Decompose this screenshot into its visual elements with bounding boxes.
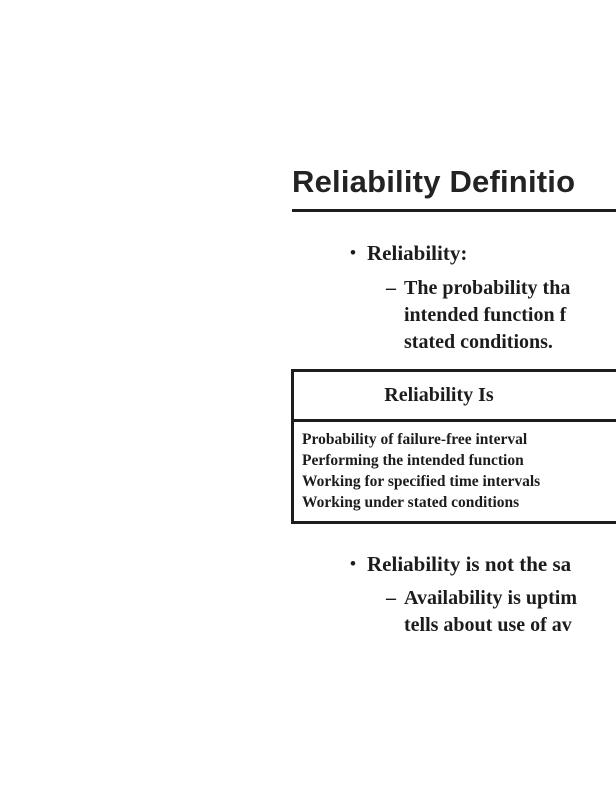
list-item: Performing the intended function bbox=[302, 450, 616, 471]
table-header-row: Reliability Is bbox=[293, 371, 616, 421]
availability-line-1: Availability is uptim bbox=[404, 587, 577, 609]
table-row: Probability of failure-free interval Per… bbox=[293, 421, 616, 523]
bullet-not-same-label: Reliability is not the sa bbox=[367, 552, 571, 576]
dash-marker-icon: – bbox=[386, 275, 404, 302]
sub-bullet-availability: –Availability is uptim tells about use o… bbox=[386, 585, 577, 639]
page-title: Reliability Definitio bbox=[292, 163, 616, 201]
reliability-attribute-list: Probability of failure-free interval Per… bbox=[302, 429, 616, 513]
definition-line-2: intended function f bbox=[386, 302, 570, 329]
table-header-label: Reliability Is bbox=[294, 384, 584, 407]
definition-line-1: The probability tha bbox=[404, 277, 570, 299]
table-column-header-reliability-is: Reliability Is bbox=[293, 371, 616, 421]
title-block: Reliability Definitio bbox=[292, 163, 616, 201]
dash-marker-icon: – bbox=[386, 585, 404, 612]
list-item: Working under stated conditions bbox=[302, 492, 616, 513]
slide-canvas: Reliability Definitio •Reliability: –The… bbox=[0, 0, 616, 800]
list-item: Probability of failure-free interval bbox=[302, 429, 616, 450]
table-body: Probability of failure-free interval Per… bbox=[293, 421, 616, 523]
title-underline-rule bbox=[292, 209, 616, 212]
sub-bullet-definition: –The probability tha intended function f… bbox=[386, 275, 570, 356]
definition-line-3: stated conditions. bbox=[386, 329, 570, 356]
bullet-marker-icon: • bbox=[350, 551, 367, 577]
availability-line-2: tells about use of av bbox=[386, 612, 577, 639]
bullet-marker-icon: • bbox=[350, 240, 367, 266]
bullet-reliability-label: Reliability: bbox=[367, 241, 467, 265]
bullet-not-same-as: •Reliability is not the sa bbox=[350, 551, 571, 577]
table-cell-reliability-is: Probability of failure-free interval Per… bbox=[293, 421, 616, 523]
table-header: Reliability Is bbox=[293, 371, 616, 421]
reliability-table: Reliability Is Probability of failure-fr… bbox=[291, 369, 616, 524]
list-item: Working for specified time intervals bbox=[302, 471, 616, 492]
bullet-reliability: •Reliability: bbox=[350, 240, 467, 266]
